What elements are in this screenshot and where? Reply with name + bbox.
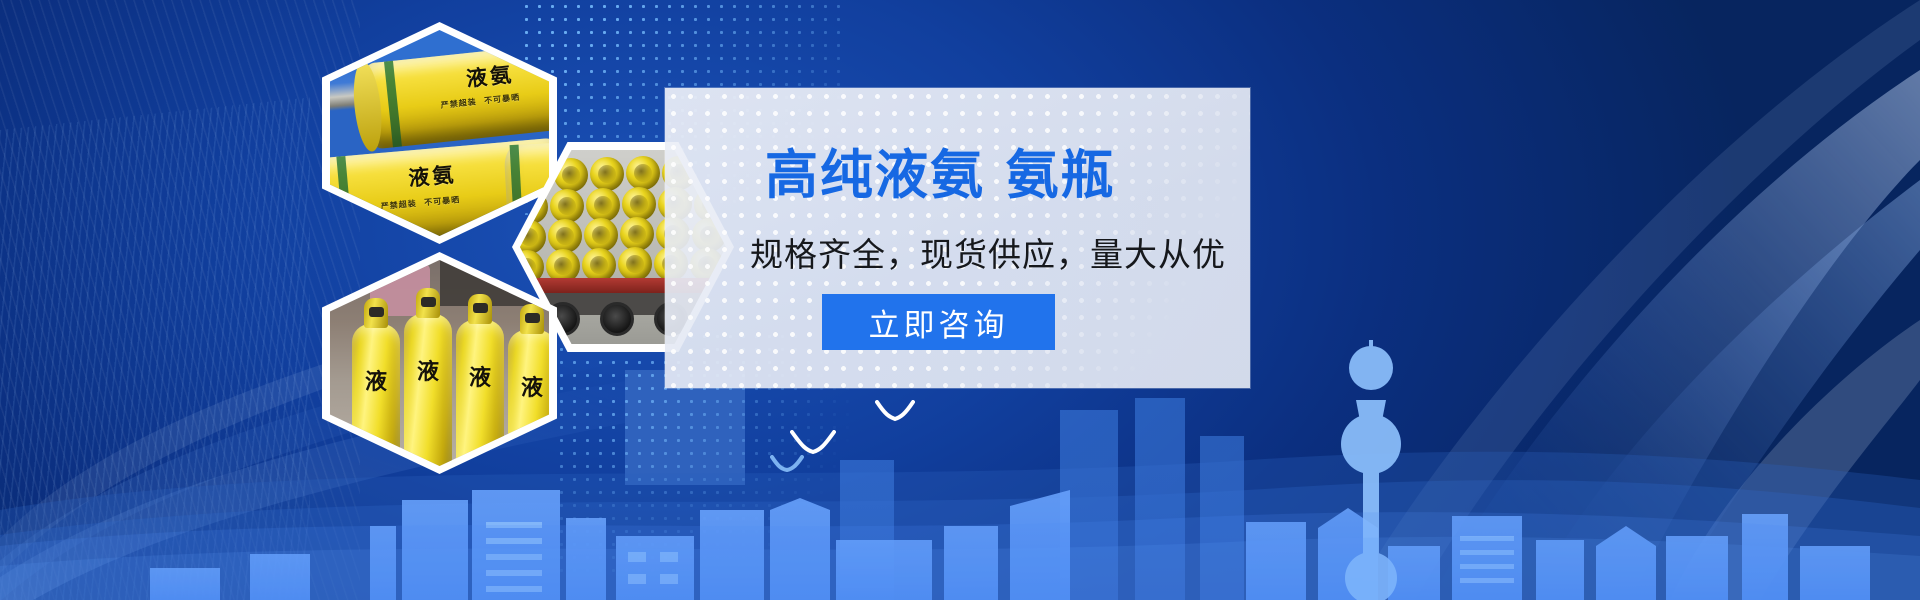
upright-ammonia-cylinders-image: 液 液 液 液 <box>330 260 549 466</box>
light-streaks-left-secondary-icon <box>0 97 310 600</box>
upright-cylinder: 液 <box>404 314 452 466</box>
truck-wheel <box>600 302 634 336</box>
photo-hexagon-horizontal-tanks: 液氨 严禁超装 不可暴晒 液氨 严禁超装 不可暴晒 <box>322 22 557 244</box>
upright-cylinder: 液 <box>508 330 549 466</box>
photo-hexagon-upright-cylinders: 液 液 液 液 <box>322 252 557 474</box>
tank-upper: 液氨 严禁超装 不可暴晒 <box>360 40 549 150</box>
content-panel: 高纯液氨 氨瓶 规格齐全，现货供应，量大从优 立即咨询 <box>665 88 1250 388</box>
upright-cylinder: 液 <box>352 324 400 466</box>
consult-now-button[interactable]: 立即咨询 <box>822 294 1055 350</box>
bird-icon-2 <box>875 400 915 427</box>
oriental-pearl-tower-icon <box>1341 340 1401 600</box>
bird-icon-3 <box>770 455 804 478</box>
hero-banner: 液氨 严禁超装 不可暴晒 液氨 严禁超装 不可暴晒 <box>0 0 1920 600</box>
horizontal-ammonia-tanks-image: 液氨 严禁超装 不可暴晒 液氨 严禁超装 不可暴晒 <box>330 30 549 236</box>
ribbon-curve-right-icon <box>1200 0 1920 600</box>
page-title: 高纯液氨 氨瓶 <box>765 133 1115 209</box>
light-streaks-left-icon <box>0 0 360 600</box>
bird-icon-1 <box>790 430 836 461</box>
upright-cylinder: 液 <box>456 320 504 466</box>
subtitle: 规格齐全，现货供应，量大从优 <box>750 228 1226 276</box>
